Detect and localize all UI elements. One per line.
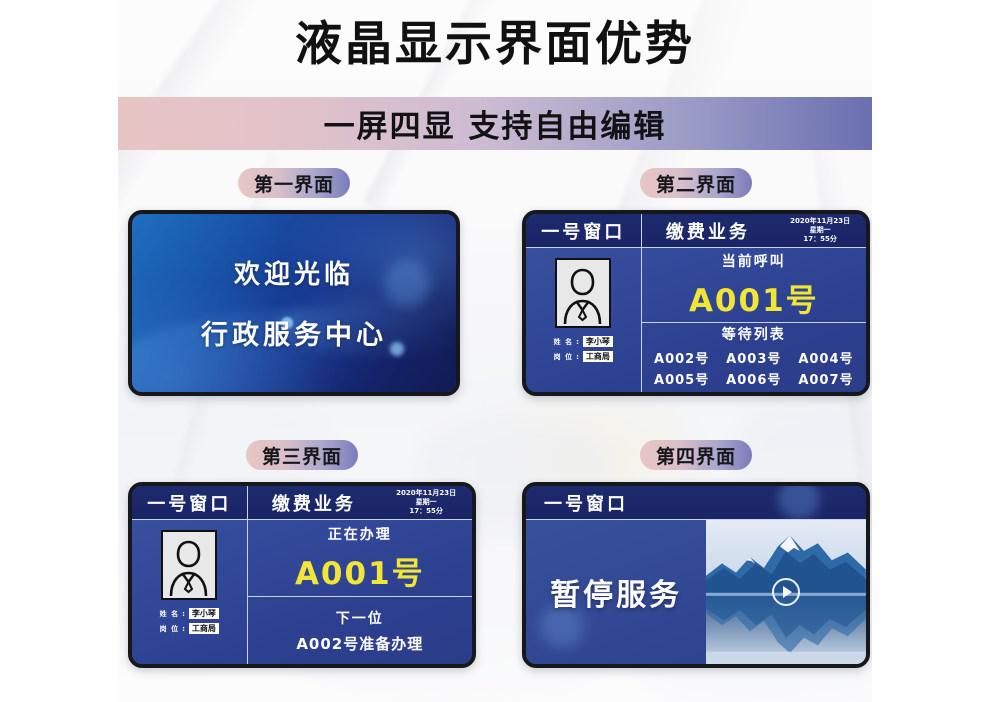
screen-header-bar: 一号窗口 缴费业务 2020年11月23日 星期一 17：55分 (526, 214, 866, 248)
pill-wrap: 第一界面 (128, 168, 460, 198)
panel-2-label: 第二界面 (640, 168, 752, 198)
waiting-ticket: A007号 (795, 369, 857, 388)
service-name: 缴费业务 (642, 214, 775, 247)
waiting-ticket: A005号 (651, 369, 713, 388)
staff-panel: 姓 名 : 李小琴 岗 位 : 工商局 (132, 520, 248, 664)
queue-info: 正在办理 A001号 下一位 A002号准备办理 (248, 520, 472, 664)
staff-name-label: 姓 名 (554, 337, 573, 347)
staff-name-value: 李小琴 (189, 608, 219, 619)
screen-interface-4[interactable]: 一号窗口 暂停服务 (522, 482, 870, 668)
page-root: 液晶显示界面优势 一屏四显 支持自由编辑 第一界面 欢迎光临 行政服务中心 (0, 0, 990, 702)
welcome-screen: 欢迎光临 行政服务中心 (132, 214, 456, 392)
queue-calling-screen: 一号窗口 缴费业务 2020年11月23日 星期一 17：55分 (526, 214, 866, 392)
screen-interface-1[interactable]: 欢迎光临 行政服务中心 (128, 210, 460, 396)
current-call-block: 当前呼叫 A001号 (642, 248, 866, 323)
paused-video-screen: 一号窗口 暂停服务 (526, 486, 866, 664)
waiting-ticket: A006号 (723, 369, 785, 388)
panel-interface-3: 第三界面 一号窗口 缴费业务 2020年11月23日 星期一 17：55分 (128, 440, 476, 668)
page-title: 液晶显示界面优势 (118, 18, 872, 72)
serving-number: A001号 (295, 548, 425, 593)
pill-wrap: 第二界面 (522, 168, 870, 198)
video-player[interactable] (706, 520, 866, 664)
date-text: 2020年11月23日 (790, 217, 850, 226)
status-badge: 暂停服务 (550, 570, 682, 614)
colon: : (182, 610, 186, 618)
staff-post-row: 岗 位 : 工商局 (554, 351, 613, 362)
page-subtitle: 一屏四显 支持自由编辑 (324, 101, 667, 146)
screen-body: 姓 名 : 李小琴 岗 位 : 工商局 (132, 520, 472, 664)
waiting-list-title: 等待列表 (722, 324, 786, 344)
staff-post-label: 岗 位 (160, 624, 179, 634)
staff-post-label: 岗 位 (554, 352, 573, 362)
weekday-text: 星期一 (810, 226, 831, 235)
window-name: 一号窗口 (132, 486, 248, 519)
serving-block: 正在办理 A001号 (248, 520, 472, 597)
window-name: 一号窗口 (544, 490, 628, 516)
pill-wrap: 第三界面 (128, 440, 476, 470)
service-name: 缴费业务 (248, 486, 381, 519)
staff-post-value: 工商局 (583, 351, 613, 362)
screen-body: 姓 名 : 李小琴 岗 位 : 工商局 (526, 248, 866, 392)
staff-fields: 姓 名 : 李小琴 岗 位 : 工商局 (138, 608, 241, 634)
staff-fields: 姓 名 : 李小琴 岗 位 : 工商局 (532, 336, 635, 362)
staff-name-row: 姓 名 : 李小琴 (160, 608, 219, 619)
waiting-ticket: A004号 (795, 348, 857, 367)
subtitle-band: 一屏四显 支持自由编辑 (118, 97, 872, 150)
next-text: A002号准备办理 (296, 633, 423, 654)
current-call-caption: 当前呼叫 (722, 251, 786, 271)
person-silhouette-icon (161, 530, 217, 600)
staff-name-label: 姓 名 (160, 609, 179, 619)
pill-wrap: 第四界面 (522, 440, 870, 470)
panel-4-label: 第四界面 (640, 440, 752, 470)
serving-caption: 正在办理 (328, 524, 392, 544)
screen-interface-2[interactable]: 一号窗口 缴费业务 2020年11月23日 星期一 17：55分 (522, 210, 870, 396)
waiting-list-grid: A002号 A003号 A004号 A005号 A006号 A007号 (651, 348, 857, 388)
welcome-line-2: 行政服务中心 (201, 313, 387, 352)
screen-header-bar: 一号窗口 (526, 486, 866, 520)
staff-name-row: 姓 名 : 李小琴 (554, 336, 613, 347)
staff-post-row: 岗 位 : 工商局 (160, 623, 219, 634)
date-text: 2020年11月23日 (396, 489, 456, 498)
datetime-block: 2020年11月23日 星期一 17：55分 (774, 214, 866, 247)
time-text: 17：55分 (409, 507, 442, 516)
screen-header-bar: 一号窗口 缴费业务 2020年11月23日 星期一 17：55分 (132, 486, 472, 520)
next-title: 下一位 (336, 608, 384, 628)
panel-interface-4: 第四界面 一号窗口 暂停服务 (522, 440, 870, 668)
datetime-block: 2020年11月23日 星期一 17：55分 (380, 486, 472, 519)
person-silhouette-icon (555, 258, 611, 328)
waiting-list-block: 等待列表 A002号 A003号 A004号 A005号 A006号 A007号 (642, 323, 866, 392)
staff-post-value: 工商局 (189, 623, 219, 634)
welcome-line-1: 欢迎光临 (234, 254, 354, 291)
waiting-ticket: A003号 (723, 348, 785, 367)
status-area: 暂停服务 (526, 520, 706, 664)
next-block: 下一位 A002号准备办理 (248, 597, 472, 664)
play-icon[interactable] (772, 578, 800, 606)
decor-glow (778, 486, 820, 520)
screen-interface-3[interactable]: 一号窗口 缴费业务 2020年11月23日 星期一 17：55分 (128, 482, 476, 668)
waiting-ticket: A002号 (651, 348, 713, 367)
staff-panel: 姓 名 : 李小琴 岗 位 : 工商局 (526, 248, 642, 392)
window-name: 一号窗口 (526, 214, 642, 247)
queue-info: 当前呼叫 A001号 等待列表 A002号 A003号 A004号 A005号 (642, 248, 866, 392)
weekday-text: 星期一 (416, 498, 437, 507)
panel-1-label: 第一界面 (238, 168, 350, 198)
staff-name-value: 李小琴 (583, 336, 613, 347)
screen-body: 暂停服务 (526, 520, 866, 664)
current-call-number: A001号 (689, 275, 819, 320)
colon: : (576, 338, 580, 346)
time-text: 17：55分 (803, 235, 836, 244)
poster-content: 液晶显示界面优势 一屏四显 支持自由编辑 第一界面 欢迎光临 行政服务中心 (118, 0, 872, 702)
panel-interface-2: 第二界面 一号窗口 缴费业务 2020年11月23日 星期一 17：55分 (522, 168, 870, 396)
colon: : (182, 625, 186, 633)
panel-3-label: 第三界面 (246, 440, 358, 470)
queue-serving-screen: 一号窗口 缴费业务 2020年11月23日 星期一 17：55分 (132, 486, 472, 664)
panel-interface-1: 第一界面 欢迎光临 行政服务中心 (128, 168, 460, 396)
colon: : (576, 353, 580, 361)
